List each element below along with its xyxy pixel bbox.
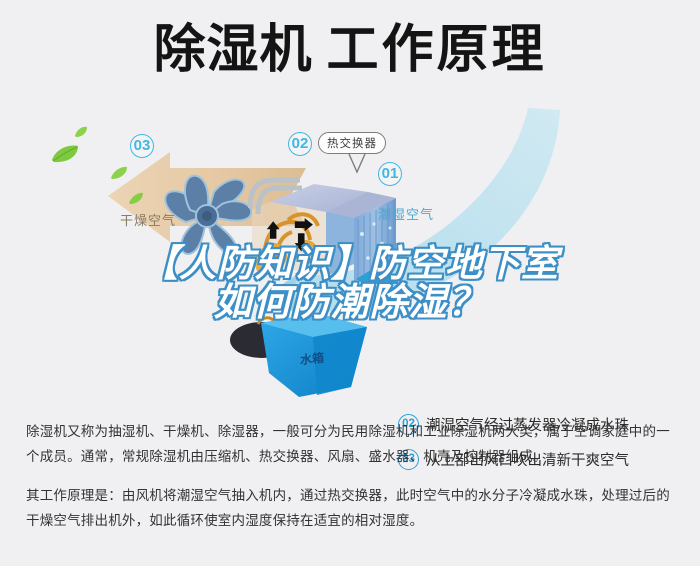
bubble-pointer-icon — [348, 154, 366, 174]
leaf-icon — [110, 166, 128, 180]
paragraph-1: 除湿机又称为抽湿机、干燥机、除湿器，一般可分为民用除湿机和工业除湿机两大类，属于… — [26, 420, 678, 470]
title-part-1: 除湿机 — [153, 24, 312, 76]
callout-caption-humid-air: 潮湿空气 — [378, 204, 434, 223]
paragraph-2: 其工作原理是：由风机将潮湿空气抽入机内，通过热交换器，此时空气中的水分子冷凝成水… — [26, 484, 678, 534]
callout-badge-03: 03 — [130, 134, 154, 158]
title-part-2: 工作原理 — [327, 24, 547, 76]
leaf-icon — [128, 192, 144, 205]
leaf-icon — [50, 144, 80, 164]
infographic-page: 除湿机工作原理 — [0, 0, 700, 566]
dehumidifier-diagram: 水箱 03 干燥空气 02 热交换器 01 潮湿空气 02 潮湿空气经过蒸发器冷… — [0, 118, 700, 408]
tank-label: 水箱 — [300, 349, 324, 369]
callout-caption-dry-air: 干燥空气 — [120, 210, 176, 229]
callout-bubble-heat-exchanger: 热交换器 — [318, 132, 386, 154]
body-copy: 除湿机又称为抽湿机、干燥机、除湿器，一般可分为民用除湿机和工业除湿机两大类，属于… — [26, 420, 678, 548]
callout-badge-02: 02 — [288, 132, 312, 156]
leaf-icon — [74, 126, 88, 138]
page-title: 除湿机工作原理 — [0, 24, 700, 76]
callout-badge-01: 01 — [378, 162, 402, 186]
